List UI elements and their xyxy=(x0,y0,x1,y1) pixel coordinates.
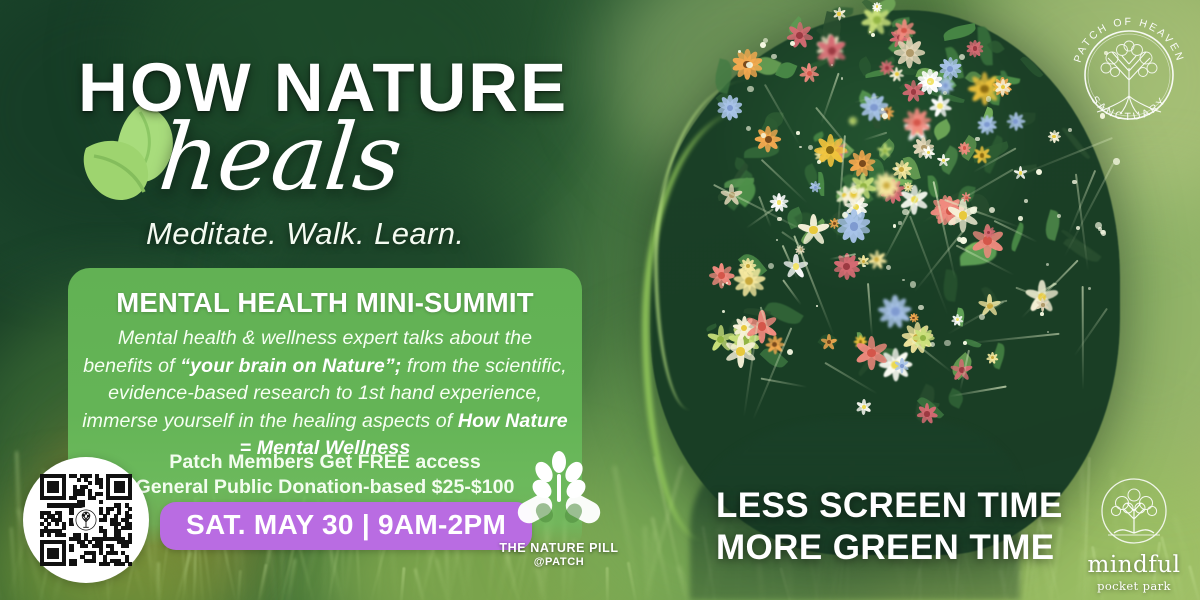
flower-bud xyxy=(893,224,897,228)
flower xyxy=(994,78,1011,95)
tagline-line1: LESS SCREEN TIME xyxy=(716,485,1063,527)
flower-bud xyxy=(796,131,800,135)
flower-bud xyxy=(901,204,904,207)
flower xyxy=(928,94,952,118)
sprig-stem xyxy=(1082,286,1084,390)
flower-bud xyxy=(930,342,935,347)
nature-pill-logo: THE NATURE PILL @PATCH xyxy=(497,448,621,566)
flower xyxy=(921,145,935,159)
patch-of-heaven-bottom-text: SANCTUARY xyxy=(1089,94,1170,123)
flower-bud xyxy=(960,237,967,244)
flower-bud xyxy=(851,188,857,194)
flower-bud xyxy=(902,209,909,216)
mindful-subtitle: pocket park xyxy=(1078,579,1190,593)
flower-bud xyxy=(898,221,901,224)
patch-of-heaven-logo: PATCH OF HEAVEN SANCTUARY xyxy=(1062,8,1196,142)
flower xyxy=(937,153,951,167)
flower xyxy=(739,257,757,275)
flower-bud xyxy=(747,86,754,93)
flower xyxy=(1047,130,1061,144)
qr-code-icon[interactable] xyxy=(40,474,132,566)
nature-pill-label: THE NATURE PILL xyxy=(497,541,621,555)
flower xyxy=(916,403,938,425)
tagline: LESS SCREEN TIME MORE GREEN TIME xyxy=(716,485,1063,569)
flower-bud xyxy=(738,50,741,53)
flower-bud xyxy=(799,146,802,149)
flower-bud xyxy=(831,64,833,66)
flower-bud xyxy=(816,305,818,307)
flower-bud xyxy=(970,207,976,213)
flower xyxy=(815,34,848,67)
flower-bud xyxy=(975,137,979,141)
flower-bud xyxy=(979,314,985,320)
flower-bud xyxy=(863,265,866,268)
flower-bud xyxy=(1113,158,1119,164)
flower xyxy=(848,115,858,125)
qr-center-tree-icon xyxy=(73,507,99,533)
nature-pill-capsule-icon xyxy=(497,448,621,536)
flower-bud xyxy=(1040,312,1044,316)
flower-bud xyxy=(1076,226,1080,230)
flower-bud xyxy=(895,167,897,169)
flower xyxy=(894,357,910,373)
page-subtitle: Meditate. Walk. Learn. xyxy=(146,216,464,252)
flower xyxy=(902,80,926,104)
flower xyxy=(966,39,984,57)
mindful-pocket-park-logo: mindful pocket park xyxy=(1078,475,1190,593)
card-description-emphasis1: “your brain on Nature”; xyxy=(180,355,401,377)
flower-bud xyxy=(768,263,774,269)
card-description: Mental health & wellness expert talks ab… xyxy=(82,325,568,463)
flower xyxy=(983,226,996,239)
flower xyxy=(832,7,846,21)
svg-text:SANCTUARY: SANCTUARY xyxy=(1089,94,1170,123)
flower xyxy=(856,399,873,416)
flower-bud xyxy=(1057,214,1062,219)
flower-bud xyxy=(944,340,950,346)
event-date-badge: SAT. MAY 30 | 9AM-2PM xyxy=(160,502,532,550)
flower xyxy=(754,125,782,153)
flower xyxy=(986,351,999,364)
flower xyxy=(877,143,893,159)
nature-pill-handle: @PATCH xyxy=(497,556,621,568)
flower-bud xyxy=(1024,199,1028,203)
page-title-script: heals xyxy=(155,112,405,204)
flower-bud xyxy=(763,38,769,44)
tree-of-life-icon xyxy=(1078,475,1190,551)
flower xyxy=(840,181,866,207)
flower xyxy=(977,114,998,135)
flower xyxy=(717,95,744,122)
flower-bud xyxy=(761,133,766,138)
flower xyxy=(872,1,883,12)
flower xyxy=(820,334,838,352)
flower-bud xyxy=(882,113,888,119)
flower xyxy=(958,141,972,155)
flower xyxy=(854,335,890,371)
qr-code-badge[interactable] xyxy=(23,457,149,583)
flower-bud xyxy=(808,145,813,150)
flower xyxy=(877,294,913,330)
flower xyxy=(809,181,821,193)
flower xyxy=(879,60,895,76)
event-poster: HOW NATURE heals Meditate. Walk. Learn. … xyxy=(0,0,1200,600)
flower-bud xyxy=(746,62,753,69)
mindful-title: mindful xyxy=(1078,554,1190,577)
tagline-line2: MORE GREEN TIME xyxy=(716,527,1063,569)
flower xyxy=(1006,112,1026,132)
card-heading: MENTAL HEALTH MINI-SUMMIT xyxy=(68,287,582,319)
flower xyxy=(892,18,916,42)
flower-bud xyxy=(986,96,991,101)
